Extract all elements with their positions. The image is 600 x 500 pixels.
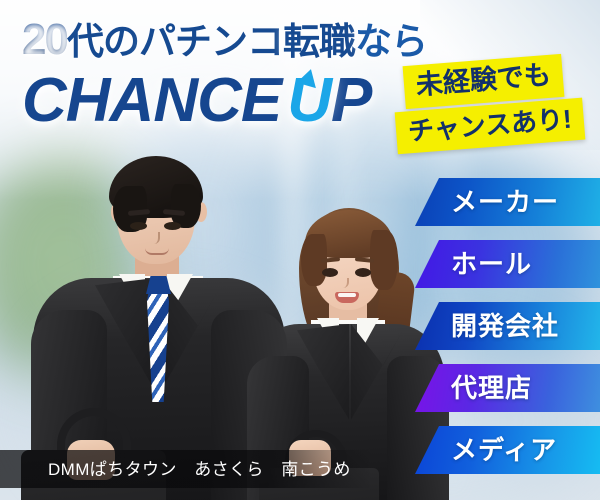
ribbon-hall[interactable]: ホール: [415, 240, 600, 288]
headline-age-number: 20: [22, 15, 67, 64]
ribbon-agency[interactable]: 代理店: [415, 364, 600, 412]
ribbon-development-company-label: 開発会社: [451, 313, 559, 339]
man-hair: [109, 156, 203, 218]
logo-letter-u-wrap: U: [287, 70, 331, 132]
promo-banner[interactable]: 20代のパチンコ転職なら CHANCEUP 未経験でも チャンスあり! メーカー…: [0, 0, 600, 500]
woman-bangs: [305, 210, 393, 258]
caption-text: DMMぱちタウン あさくら 南こうめ: [48, 461, 351, 478]
ribbon-maker-label: メーカー: [451, 189, 559, 215]
ribbon-development-company[interactable]: 開発会社: [415, 302, 600, 350]
ribbon-maker[interactable]: メーカー: [415, 178, 600, 226]
badge-no-experience-label: 未経験でも: [415, 60, 552, 100]
ribbon-hall-label: ホール: [451, 251, 532, 277]
headline: 20代のパチンコ転職なら: [22, 18, 427, 62]
woman-eye-right: [355, 268, 371, 277]
logo-word-chance: CHANCE: [22, 66, 281, 135]
chance-up-logo: CHANCEUP: [22, 70, 371, 132]
people-photo: [0, 140, 430, 500]
ribbon-media-label: メディア: [451, 437, 557, 463]
caption-bar: DMMぱちタウン あさくら 南こうめ: [0, 450, 372, 488]
headline-topic: 転職: [283, 21, 355, 62]
man-eye-left: [130, 222, 147, 230]
man-eye-right: [164, 222, 181, 230]
headline-conditional: なら: [355, 21, 427, 62]
logo-letter-p: P: [331, 66, 371, 135]
woman-mouth: [335, 292, 359, 303]
category-ribbon-list: メーカー ホール 開発会社 代理店 メディア: [415, 178, 600, 488]
ribbon-media[interactable]: メディア: [415, 426, 600, 474]
headline-keyword: パチンコ: [139, 21, 283, 62]
woman-eye-left: [322, 268, 338, 277]
badge-chance-available-label: チャンスあり!: [407, 104, 573, 147]
headline-age-suffix: 代の: [67, 21, 139, 62]
ribbon-agency-label: 代理店: [451, 375, 532, 401]
man-mouth: [145, 248, 169, 255]
